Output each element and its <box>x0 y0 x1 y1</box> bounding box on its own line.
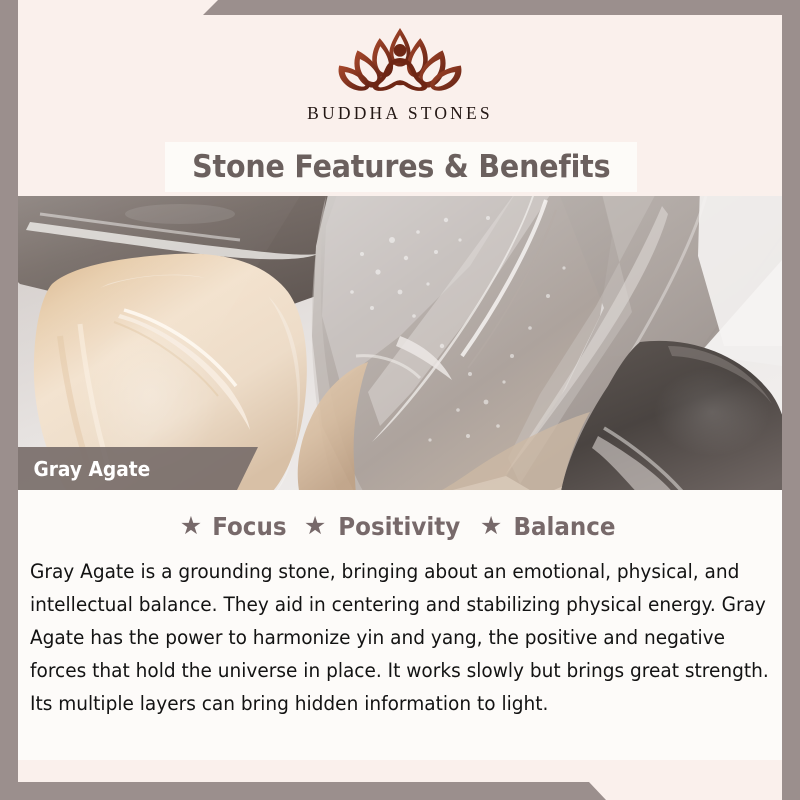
frame-top-border <box>0 0 800 15</box>
frame-left-border <box>0 0 18 800</box>
page-title: Stone Features & Benefits <box>192 149 610 185</box>
benefit-item-positivity: ★ Positivity <box>304 512 466 541</box>
stone-photo-illustration <box>0 196 782 490</box>
infographic-page: BUDDHA STONES Stone Features & Benefits <box>0 0 800 800</box>
star-icon: ★ <box>480 514 502 539</box>
benefit-label: Balance <box>514 512 616 541</box>
title-banner: Stone Features & Benefits <box>165 142 637 192</box>
stone-name-label: Gray Agate <box>0 457 150 481</box>
stone-photo <box>0 196 782 490</box>
benefit-item-balance: ★ Balance <box>480 512 620 541</box>
stone-description: Gray Agate is a grounding stone, bringin… <box>30 555 784 720</box>
star-icon: ★ <box>304 514 326 539</box>
stone-name-tag: Gray Agate <box>0 447 258 490</box>
lotus-meditation-figure-icon <box>324 23 476 101</box>
benefits-row: ★ Focus ★ Positivity ★ Balance <box>18 490 782 541</box>
benefit-label: Positivity <box>339 512 461 541</box>
benefit-item-focus: ★ Focus <box>180 512 290 541</box>
frame-bottom-border <box>0 782 800 800</box>
benefit-label: Focus <box>212 512 286 541</box>
frame-right-border <box>782 0 800 800</box>
star-icon: ★ <box>180 514 202 539</box>
brand-wordmark: BUDDHA STONES <box>307 103 493 124</box>
brand-logo-block: BUDDHA STONES <box>0 15 800 142</box>
content-panel: ★ Focus ★ Positivity ★ Balance Gray Agat… <box>18 490 782 760</box>
